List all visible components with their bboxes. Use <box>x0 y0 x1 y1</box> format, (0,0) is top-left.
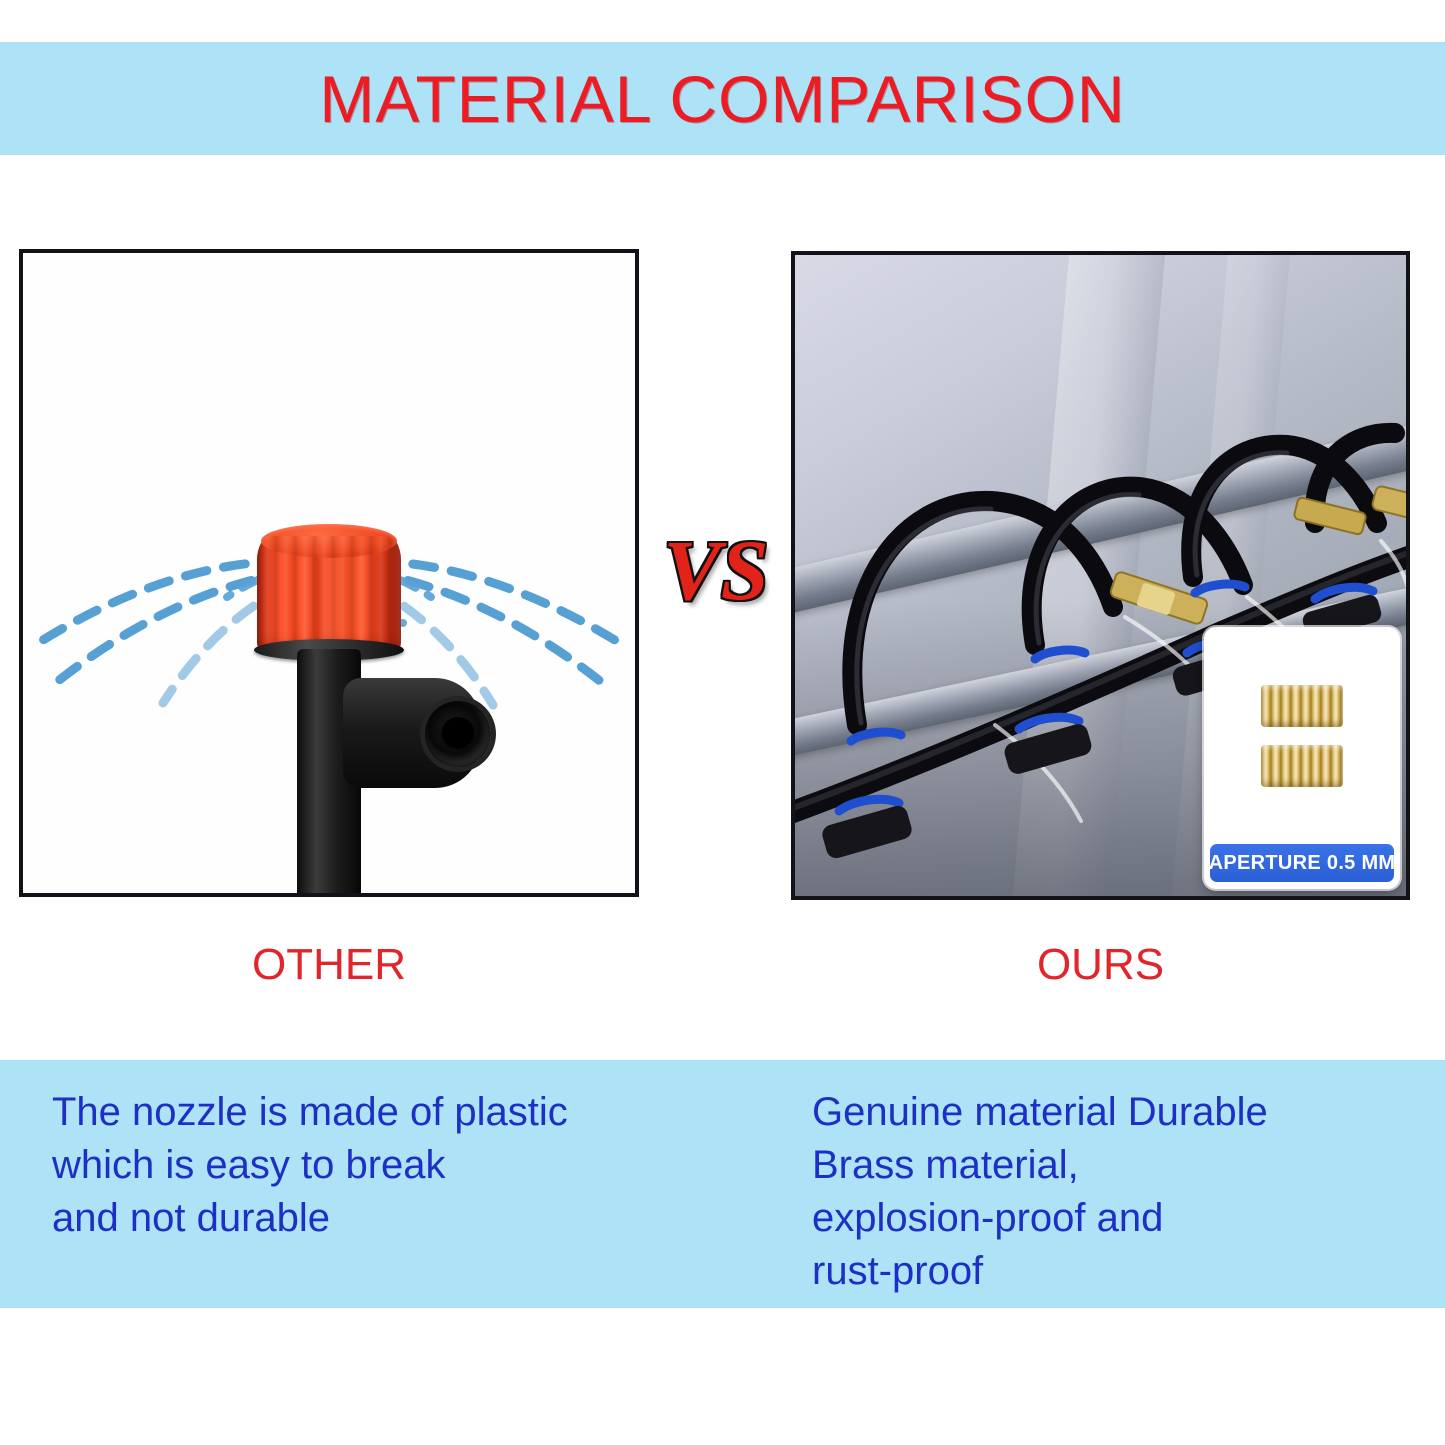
brass-nozzle-inset-card: APERTURE 0.5 MM <box>1204 627 1400 889</box>
misting-system-photo: APERTURE 0.5 MM <box>795 255 1406 896</box>
title-banner: MATERIAL COMPARISON <box>0 42 1445 155</box>
other-caption: OTHER <box>19 936 639 994</box>
description-banner: The nozzle is made of plastic which is e… <box>0 1060 1445 1308</box>
ours-caption: OURS <box>791 936 1410 994</box>
aperture-label: APERTURE 0.5 MM <box>1209 852 1396 875</box>
red-plastic-cap <box>257 536 401 654</box>
other-description: The nozzle is made of plastic which is e… <box>52 1086 712 1245</box>
ours-description: Genuine material Durable Brass material,… <box>812 1086 1432 1298</box>
page-title: MATERIAL COMPARISON <box>319 66 1125 132</box>
aperture-badge: APERTURE 0.5 MM <box>1210 844 1394 882</box>
elbow-port-opening <box>425 701 491 767</box>
other-product-panel <box>19 249 639 897</box>
brass-knurled-ring-bottom <box>1261 745 1343 787</box>
vs-badge: VS <box>652 527 780 613</box>
brass-knurled-ring-top <box>1261 685 1343 727</box>
our-product-panel: APERTURE 0.5 MM <box>791 251 1410 900</box>
plastic-sprinkler-illustration <box>23 253 635 893</box>
